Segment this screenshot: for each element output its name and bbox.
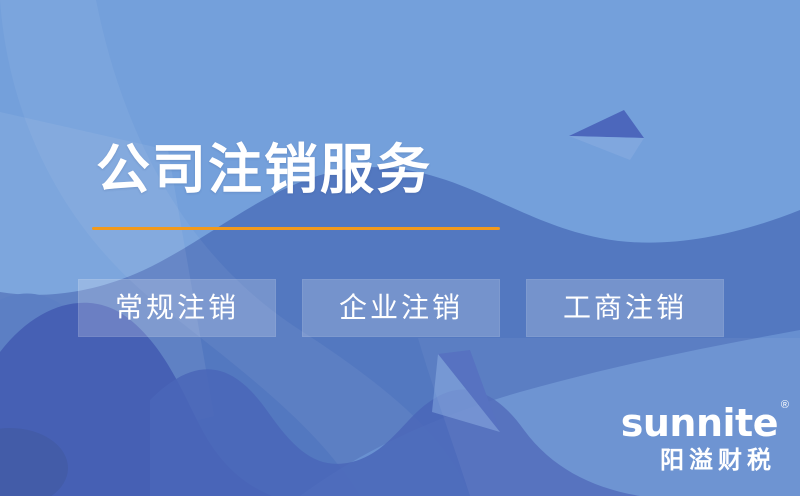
registered-trademark-icon: ® xyxy=(781,400,789,411)
service-button-row: 常规注销 企业注销 工商注销 xyxy=(78,279,724,337)
brand-wordmark-wrap: sunnite ® xyxy=(606,404,778,442)
service-button-regular-label: 常规注销 xyxy=(115,293,239,323)
brand-chinese-name: 阳溢财税 xyxy=(606,448,778,474)
brand-logo[interactable]: sunnite ® 阳溢财税 xyxy=(606,404,778,474)
banner-title: 公司注销服务 xyxy=(96,139,432,201)
service-button-commercial-label: 工商注销 xyxy=(563,293,687,323)
promo-banner: 公司注销服务 常规注销 企业注销 工商注销 sunnite ® 阳溢财税 xyxy=(0,0,800,496)
service-button-commercial[interactable]: 工商注销 xyxy=(526,279,724,337)
service-button-enterprise[interactable]: 企业注销 xyxy=(302,279,500,337)
brand-wordmark: sunnite xyxy=(606,404,778,442)
title-divider xyxy=(92,227,500,230)
service-button-enterprise-label: 企业注销 xyxy=(339,293,463,323)
service-button-regular[interactable]: 常规注销 xyxy=(78,279,276,337)
